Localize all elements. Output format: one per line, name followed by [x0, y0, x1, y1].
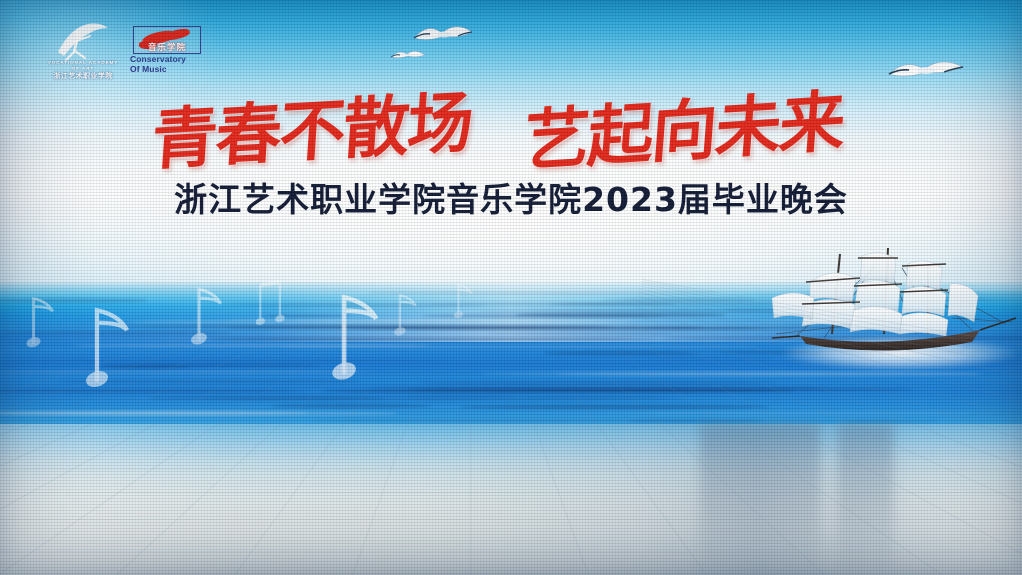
wave-line: [516, 313, 725, 317]
stage-backdrop-screen: VOCATIONAL ACADEMY OF ART 浙江艺术职业学院 音乐学院 …: [0, 0, 1022, 575]
music-note-icon: [392, 290, 421, 336]
wave-line: [271, 404, 432, 408]
floor-grid-course: [0, 492, 1022, 493]
wave-line: [604, 412, 999, 414]
floor-grid-course: [0, 551, 1022, 552]
floor-reflection-pillar: [700, 424, 820, 575]
seagull-left-small-icon: [390, 46, 426, 62]
floor-grid-course: [0, 438, 1022, 439]
dancer-figure-icon: [54, 22, 110, 62]
floor-grid-course: [0, 469, 1022, 470]
logo-conservatory-of-music[interactable]: 音乐学院 Conservatory Of Music: [130, 26, 206, 76]
logo-vocational-academy-of-art[interactable]: VOCATIONAL ACADEMY OF ART 浙江艺术职业学院: [44, 22, 122, 82]
floor-grid-course: [0, 519, 1022, 520]
wave-line: [485, 332, 674, 335]
calligraphy-title-left: 青春不散场: [149, 69, 475, 183]
seagull-right-icon: [886, 54, 966, 84]
floor-grid-course: [0, 451, 1022, 452]
academy-english-name: VOCATIONAL ACADEMY OF ART: [44, 60, 122, 72]
tall-sailing-ship-icon: [766, 238, 1016, 378]
floor-grid-course: [0, 427, 1022, 428]
wave-line: [627, 419, 763, 423]
music-note-icon: [82, 300, 137, 388]
wave-line: [0, 389, 306, 393]
music-note-icon: [24, 292, 59, 348]
wave-line: [418, 381, 776, 385]
seagull-center-large-icon: [412, 20, 474, 46]
wave-line: [458, 405, 771, 409]
event-subtitle: 浙江艺术职业学院音乐学院2023届毕业晚会: [0, 173, 1022, 221]
music-note-icon: [452, 280, 476, 319]
music-note-icon: [256, 278, 287, 327]
music-note-icon: [328, 286, 387, 381]
music-note-icon: [188, 282, 228, 345]
academy-chinese-name: 浙江艺术职业学院: [44, 72, 122, 81]
conservatory-english-name: Conservatory Of Music: [130, 54, 206, 74]
floor-reflection-pillar: [838, 424, 894, 575]
wave-line: [370, 387, 824, 389]
conservatory-chinese-name: 音乐学院: [148, 41, 186, 53]
calligraphy-title-right: 艺起向未来: [521, 68, 848, 185]
